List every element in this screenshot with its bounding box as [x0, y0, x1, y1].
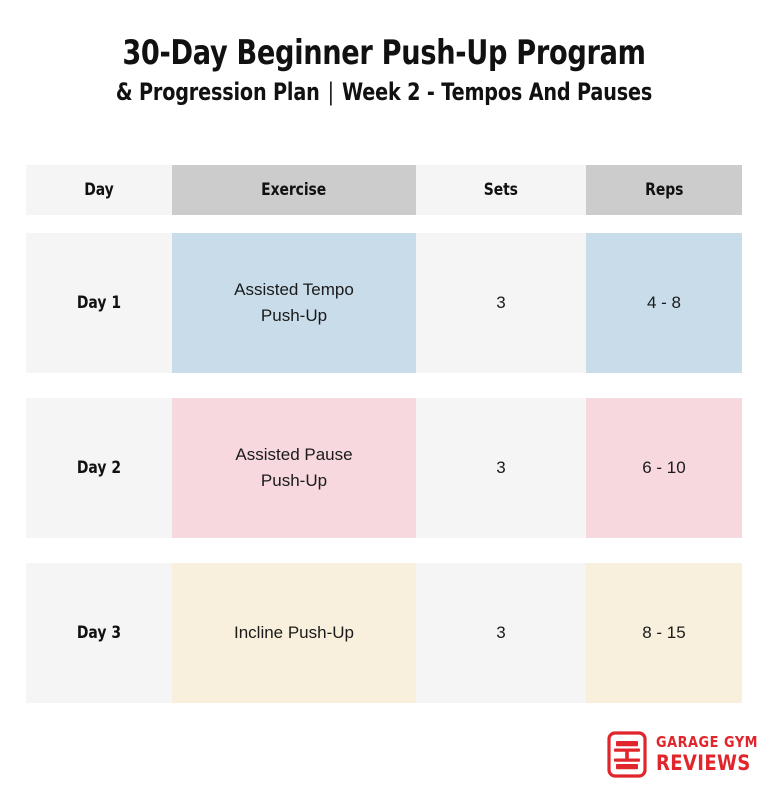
page-subtitle: & Progression Plan|Week 2 - Tempos And P…: [77, 78, 691, 107]
cell-day: Day 1: [26, 233, 172, 373]
column-header-reps: Reps: [586, 165, 742, 215]
column-header-sets: Sets: [416, 165, 586, 215]
brand-logo: GARAGE GYM REVIEWS: [607, 731, 768, 778]
cell-sets-value: 3: [496, 458, 505, 478]
column-header-day-label: Day: [84, 180, 113, 200]
cell-exercise: Assisted Pause Push-Up: [172, 398, 416, 538]
cell-reps: 4 - 8: [586, 233, 742, 373]
cell-reps-value: 4 - 8: [647, 293, 681, 313]
cell-sets: 3: [416, 233, 586, 373]
table-row: Day 2 Assisted Pause Push-Up 3 6 - 10: [26, 398, 742, 538]
cell-day: Day 2: [26, 398, 172, 538]
column-header-exercise: Exercise: [172, 165, 416, 215]
column-header-sets-label: Sets: [484, 180, 518, 200]
page-title: 30-Day Beginner Push-Up Program: [77, 34, 691, 72]
cell-day-label: Day 3: [77, 623, 121, 643]
subtitle-left: & Progression Plan: [116, 78, 320, 106]
table-row: Day 3 Incline Push-Up 3 8 - 15: [26, 563, 742, 703]
cell-sets-value: 3: [496, 293, 505, 313]
cell-day-label: Day 1: [77, 293, 121, 313]
table-row: Day 1 Assisted Tempo Push-Up 3 4 - 8: [26, 233, 742, 373]
column-header-day: Day: [26, 165, 172, 215]
subtitle-right: Week 2 - Tempos And Pauses: [342, 78, 652, 106]
cell-exercise-line1: Assisted Pause: [235, 445, 352, 464]
column-header-exercise-label: Exercise: [262, 180, 327, 200]
infographic-page: 30-Day Beginner Push-Up Program & Progre…: [0, 0, 768, 804]
cell-exercise-line2: Push-Up: [261, 306, 327, 325]
cell-reps-value: 8 - 15: [642, 623, 685, 643]
cell-sets: 3: [416, 398, 586, 538]
cell-reps-value: 6 - 10: [642, 458, 685, 478]
logo-line-garage-gym: GARAGE GYM: [656, 735, 758, 750]
bench-press-icon: [607, 731, 647, 778]
subtitle-separator: |: [320, 78, 342, 107]
column-header-reps-label: Reps: [645, 180, 683, 200]
cell-exercise: Assisted Tempo Push-Up: [172, 233, 416, 373]
table-header-row: Day Exercise Sets Reps: [26, 165, 742, 215]
program-table: Day Exercise Sets Reps Day 1 Assisted Te…: [26, 165, 742, 728]
cell-exercise-label: Assisted Tempo Push-Up: [234, 277, 354, 330]
cell-exercise-label: Incline Push-Up: [234, 620, 354, 646]
cell-sets: 3: [416, 563, 586, 703]
cell-sets-value: 3: [496, 623, 505, 643]
cell-day-label: Day 2: [77, 458, 121, 478]
cell-exercise-line2: Push-Up: [261, 471, 327, 490]
logo-wordmark: GARAGE GYM REVIEWS: [656, 735, 768, 774]
cell-reps: 8 - 15: [586, 563, 742, 703]
cell-reps: 6 - 10: [586, 398, 742, 538]
header: 30-Day Beginner Push-Up Program & Progre…: [0, 0, 768, 107]
cell-exercise-line1: Assisted Tempo: [234, 280, 354, 299]
cell-exercise: Incline Push-Up: [172, 563, 416, 703]
cell-day: Day 3: [26, 563, 172, 703]
logo-line-reviews: REVIEWS: [656, 753, 758, 774]
cell-exercise-label: Assisted Pause Push-Up: [235, 442, 352, 495]
